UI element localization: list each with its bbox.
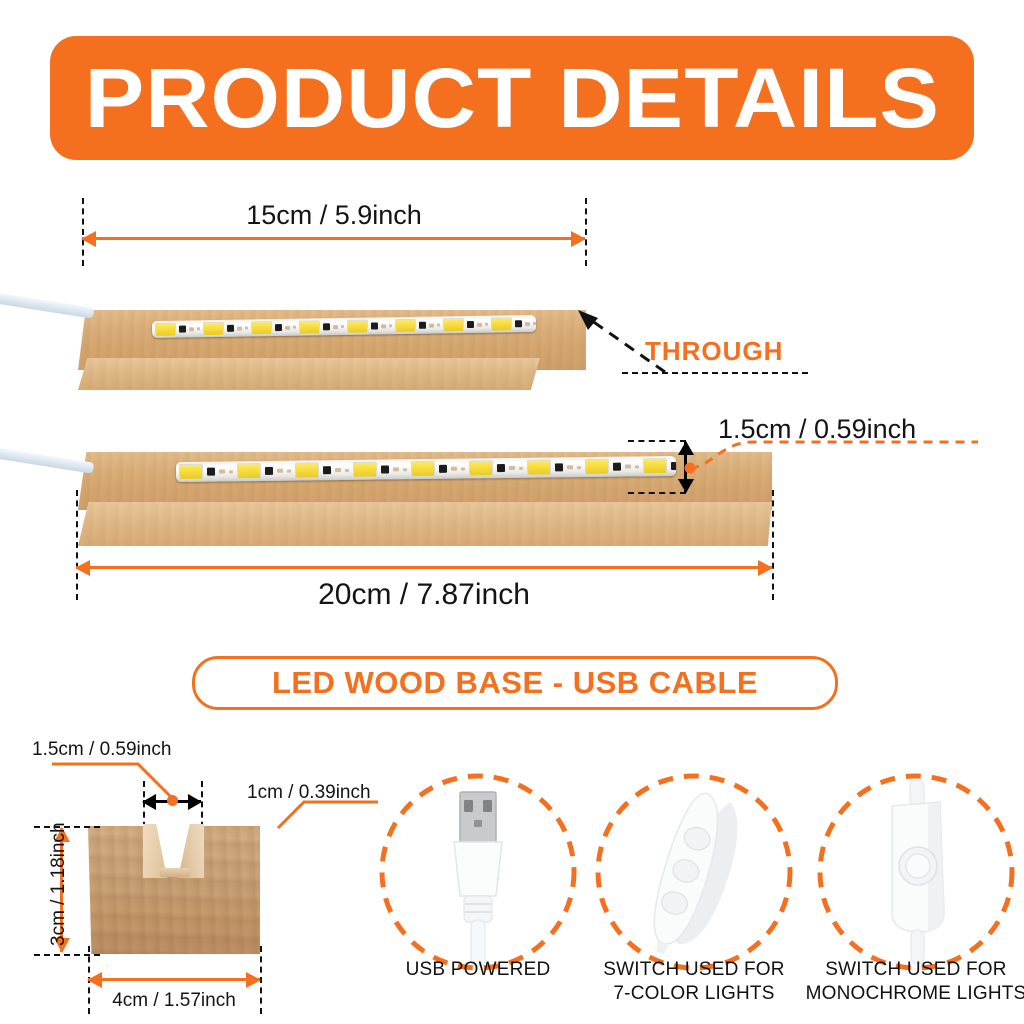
- cross-height-label: 3cm / 1.18inch: [48, 822, 70, 946]
- bottom-width-arrow: [76, 566, 772, 569]
- section-header-label: LED WOOD BASE - USB CABLE: [272, 665, 758, 701]
- top-width-arrow: [82, 237, 585, 240]
- inline-rocker-switch-icon: [868, 780, 964, 964]
- inset-caption-seven-color: SWITCH USED FOR 7-COLOR LIGHTS: [564, 958, 824, 1006]
- cross-height-guide-bottom: [34, 954, 100, 956]
- groove-depth-label: 1.5cm / 0.59inch: [718, 414, 916, 445]
- usb-connector-icon: [438, 786, 518, 966]
- inset-caption-monochrome: SWITCH USED FOR MONOCHROME LIGHTS: [786, 958, 1024, 1006]
- cross-lip-leader: [260, 800, 380, 836]
- cross-groove-width-dot: [167, 795, 178, 806]
- top-base-lower-ledge: [78, 358, 540, 390]
- page-title: PRODUCT DETAILS: [84, 56, 939, 140]
- top-width-label: 15cm / 5.9inch: [0, 200, 668, 231]
- cross-width-arrow: [88, 978, 260, 981]
- through-label: THROUGH: [645, 336, 783, 367]
- inset-monochrome-switch: [816, 772, 1016, 972]
- cross-section-groove-floor: [160, 868, 190, 877]
- bottom-base-lower-ledge: [78, 502, 772, 546]
- through-leader-line: [622, 372, 808, 374]
- cross-width-label: 4cm / 1.57inch: [88, 990, 260, 1012]
- header-banner: PRODUCT DETAILS: [50, 36, 974, 160]
- usb-cable-bottom: [0, 447, 94, 474]
- bottom-dim-guide-right: [772, 490, 774, 600]
- usb-cable-top: [0, 292, 94, 319]
- inset-usb-powered: [378, 772, 578, 972]
- bottom-base-upper-face: [86, 396, 746, 456]
- bottom-width-label: 20cm / 7.87inch: [76, 578, 772, 612]
- inset-seven-color-switch: [594, 772, 794, 972]
- three-button-switch-icon: [632, 782, 762, 962]
- section-header-pill: LED WOOD BASE - USB CABLE: [192, 656, 838, 710]
